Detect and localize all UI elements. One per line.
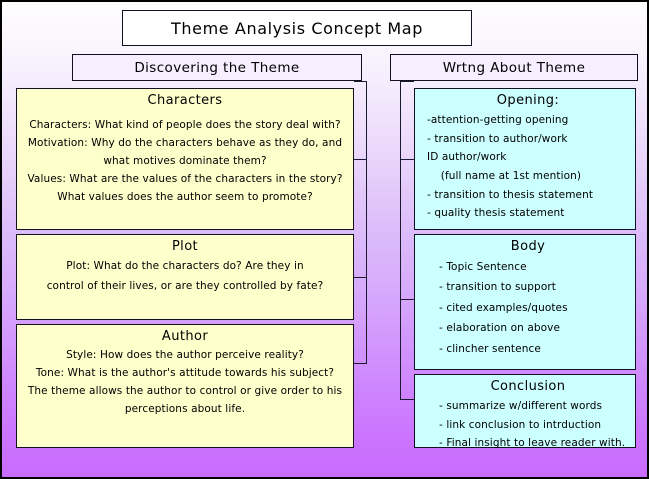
node-author: Author Style: How does the author percei…	[16, 324, 354, 448]
connector-right-to-body	[400, 299, 414, 300]
node-conclusion-line-1: - summarize w/different words	[427, 397, 629, 416]
node-opening-line-4: (full name at 1st mention)	[427, 167, 629, 186]
node-opening: Opening: -attention-getting opening - tr…	[414, 88, 636, 230]
node-body: Body - Topic Sentence - transition to su…	[414, 234, 636, 370]
node-author-line-3: The theme allows the author to control o…	[23, 382, 347, 400]
page-title-text: Theme Analysis Concept Map	[171, 19, 423, 38]
connector-right-trunk	[400, 81, 401, 399]
node-characters-line-2: Motivation: Why do the characters behave…	[23, 134, 347, 152]
connector-left-to-author	[354, 363, 367, 364]
node-body-line-5: - clincher sentence	[427, 339, 629, 359]
node-opening-line-6: - quality thesis statement	[427, 204, 629, 223]
connector-right-to-opening	[400, 159, 414, 160]
column-header-writing: Wrtng About Theme	[390, 54, 638, 81]
column-header-writing-label: Wrtng About Theme	[443, 60, 586, 76]
page-title: Theme Analysis Concept Map	[122, 10, 472, 46]
node-author-line-2: Tone: What is the author's attitude towa…	[23, 364, 347, 382]
node-characters-line-5: What values does the author seem to prom…	[23, 188, 347, 206]
node-conclusion-line-3: - Final insight to leave reader with.	[427, 434, 629, 453]
node-author-line-1: Style: How does the author perceive real…	[23, 346, 347, 364]
connector-left-trunk	[366, 81, 367, 363]
connector-right-to-conclusion	[400, 399, 414, 400]
node-opening-line-1: -attention-getting opening	[427, 111, 629, 130]
connector-left-to-characters	[354, 159, 367, 160]
node-plot: Plot Plot: What do the characters do? Ar…	[16, 234, 354, 320]
node-opening-line-2: - transition to author/work	[427, 130, 629, 149]
node-author-heading: Author	[23, 329, 347, 344]
node-body-line-2: - transition to support	[427, 277, 629, 297]
node-opening-heading: Opening:	[427, 93, 629, 108]
connector-left-to-plot	[354, 277, 367, 278]
node-plot-line-1: Plot: What do the characters do? Are the…	[23, 256, 347, 276]
node-body-line-3: - cited examples/quotes	[427, 298, 629, 318]
node-body-line-1: - Topic Sentence	[427, 257, 629, 277]
node-conclusion-line-2: - link conclusion to intrduction	[427, 416, 629, 435]
connector-left-header-stub	[354, 81, 367, 82]
node-characters-line-4: Values: What are the values of the chara…	[23, 170, 347, 188]
node-conclusion: Conclusion - summarize w/different words…	[414, 374, 636, 448]
node-opening-line-5: - transition to thesis statement	[427, 186, 629, 205]
node-characters-line-1: Characters: What kind of people does the…	[23, 116, 347, 134]
connector-right-header-stub	[400, 81, 414, 82]
node-plot-heading: Plot	[23, 239, 347, 254]
column-header-discovering-label: Discovering the Theme	[134, 60, 299, 76]
node-body-heading: Body	[427, 239, 629, 254]
node-characters: Characters Characters: What kind of peop…	[16, 88, 354, 230]
node-opening-line-3: ID author/work	[427, 148, 629, 167]
node-characters-heading: Characters	[23, 93, 347, 108]
node-body-line-4: - elaboration on above	[427, 318, 629, 338]
node-conclusion-heading: Conclusion	[427, 379, 629, 394]
node-characters-line-3: what motives dominate them?	[23, 152, 347, 170]
node-plot-line-2: control of their lives, or are they cont…	[23, 276, 347, 296]
column-header-discovering: Discovering the Theme	[72, 54, 362, 81]
concept-map-canvas: Theme Analysis Concept Map Discovering t…	[0, 0, 649, 479]
node-author-line-4: perceptions about life.	[23, 400, 347, 418]
